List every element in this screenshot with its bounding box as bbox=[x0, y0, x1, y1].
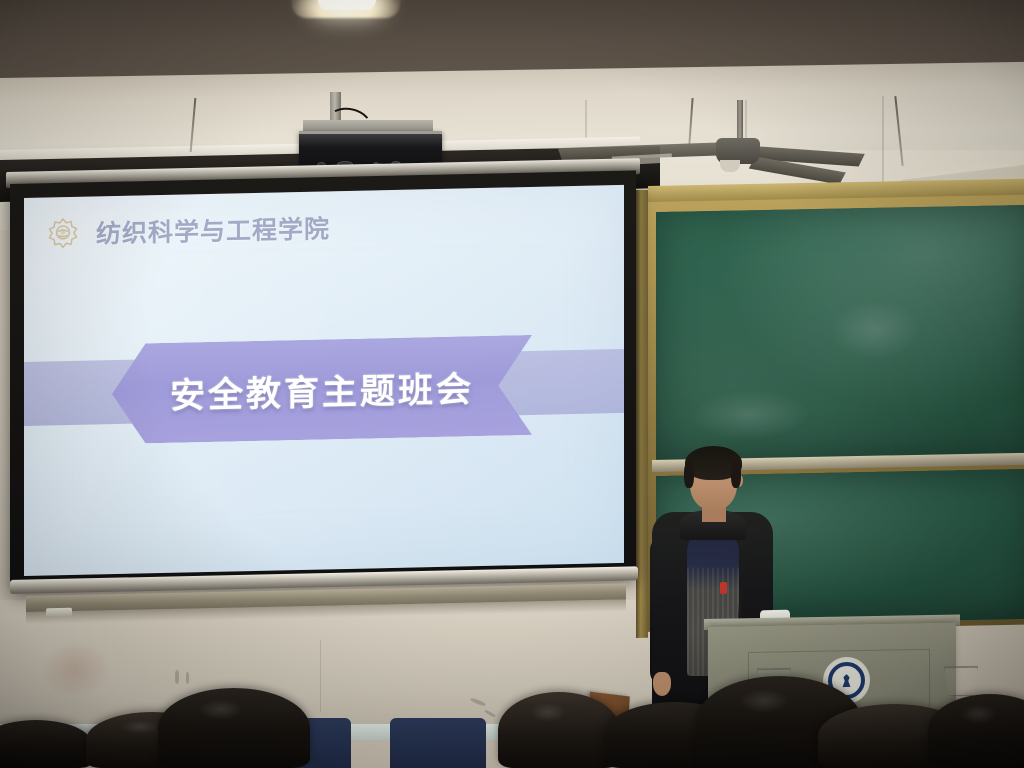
urn-shape-icon bbox=[944, 666, 978, 697]
lectern-urn-motif-right bbox=[944, 666, 978, 697]
wall-joint bbox=[320, 640, 321, 712]
slide-main-title: 安全教育主题班会 bbox=[112, 335, 532, 444]
presenter-hair-side bbox=[731, 462, 741, 488]
slide-title-banner: 安全教育主题班会 bbox=[24, 333, 624, 446]
university-starburst-logo-icon bbox=[46, 216, 80, 251]
classroom-scene: 纺织科学与工程学院 安全教育主题班会 bbox=[0, 0, 1024, 768]
slide-header: 纺织科学与工程学院 bbox=[46, 209, 330, 251]
hair-highlight bbox=[530, 703, 567, 723]
wall-seam bbox=[745, 100, 747, 142]
presenter-hair-side bbox=[684, 462, 694, 488]
fan-down-rod bbox=[737, 100, 743, 142]
hair-highlight bbox=[960, 704, 997, 723]
fan-cap bbox=[720, 160, 740, 172]
wall-stain bbox=[40, 640, 110, 700]
ceiling-light-fixture bbox=[318, 0, 376, 10]
wall-scuff bbox=[175, 670, 179, 684]
projection-screen: 纺织科学与工程学院 安全教育主题班会 bbox=[24, 185, 624, 576]
presenter-badge bbox=[720, 582, 727, 594]
student-head bbox=[158, 688, 310, 768]
student-head bbox=[498, 692, 620, 768]
hair-highlight bbox=[739, 689, 789, 713]
slide-organization-title: 纺织科学与工程学院 bbox=[96, 209, 330, 250]
hair-highlight bbox=[198, 699, 244, 720]
blackboard-eraser bbox=[46, 608, 72, 618]
wall-scuff bbox=[186, 672, 189, 684]
presenter-left-hand bbox=[653, 672, 671, 696]
hair-highlight bbox=[120, 720, 160, 735]
wall-seam bbox=[882, 96, 884, 188]
chair-back bbox=[390, 718, 486, 768]
